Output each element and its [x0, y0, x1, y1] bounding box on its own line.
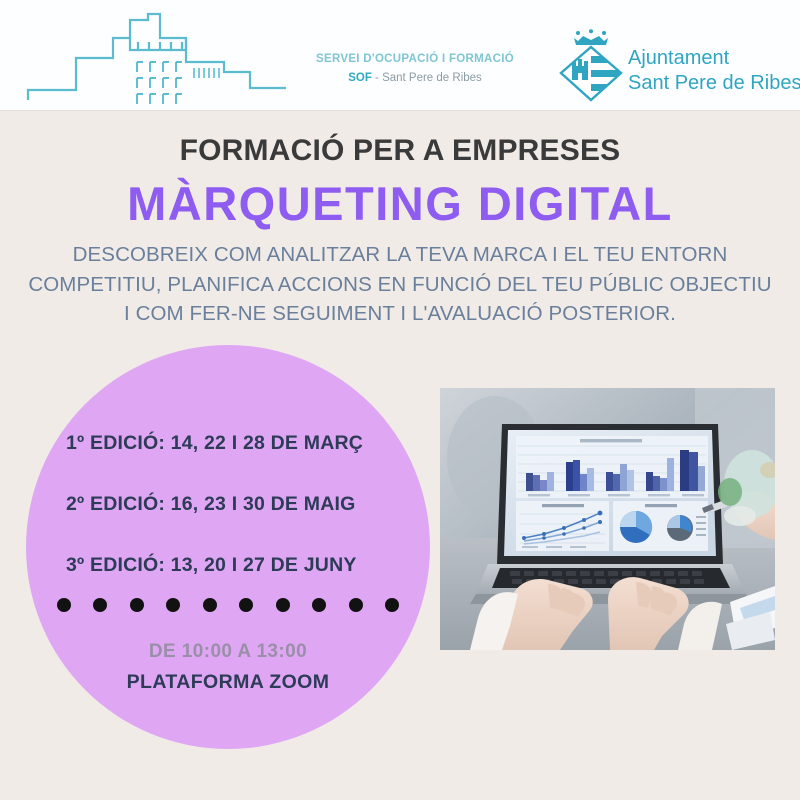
- castle-outline-logo: [18, 10, 298, 105]
- dot-separator: [26, 598, 430, 612]
- dot-icon: [276, 598, 290, 612]
- sof-title: SERVEI D'OCUPACIÓ I FORMACIÓ: [300, 52, 530, 68]
- sof-wordmark: SERVEI D'OCUPACIÓ I FORMACIÓ SOF - Sant …: [300, 52, 530, 86]
- dot-icon: [93, 598, 107, 612]
- dot-icon: [239, 598, 253, 612]
- dot-icon: [385, 598, 399, 612]
- dot-icon: [166, 598, 180, 612]
- header-divider: [0, 110, 800, 111]
- editions-list: 1º EDICIÓ: 14, 22 I 28 DE MARÇ 2º EDICIÓ…: [26, 432, 430, 577]
- dot-icon: [349, 598, 363, 612]
- laptop-business-dashboard-photo: [440, 388, 775, 650]
- dot-icon: [203, 598, 217, 612]
- list-item: 2º EDICIÓ: 16, 23 I 30 DE MAIG: [66, 493, 430, 516]
- description-text: DESCOBREIX COM ANALITZAR LA TEVA MARCA I…: [24, 240, 776, 329]
- coat-of-arms-shield: [558, 28, 628, 104]
- list-item: 3º EDICIÓ: 13, 20 I 27 DE JUNY: [66, 554, 430, 577]
- kicker-title: FORMACIÓ PER A EMPRESES: [0, 134, 800, 168]
- page-title: MÀRQUETING DIGITAL: [0, 176, 800, 231]
- header-band: SERVEI D'OCUPACIÓ I FORMACIÓ SOF - Sant …: [0, 0, 800, 110]
- sof-subtitle: SOF - Sant Pere de Ribes: [300, 71, 530, 87]
- list-item: 1º EDICIÓ: 14, 22 I 28 DE MARÇ: [66, 432, 430, 455]
- ajuntament-wordmark: Ajuntament Sant Pere de Ribes: [628, 46, 800, 96]
- ajuntament-line-2: Sant Pere de Ribes: [628, 71, 800, 96]
- ajuntament-line-1: Ajuntament: [628, 46, 800, 71]
- dot-icon: [312, 598, 326, 612]
- schedule-text: DE 10:00 A 13:00: [26, 641, 430, 663]
- platform-text: PLATAFORMA ZOOM: [26, 671, 430, 694]
- sof-locality: - Sant Pere de Ribes: [372, 72, 482, 84]
- dot-icon: [130, 598, 144, 612]
- sof-acronym: SOF: [348, 72, 372, 84]
- dot-icon: [57, 598, 71, 612]
